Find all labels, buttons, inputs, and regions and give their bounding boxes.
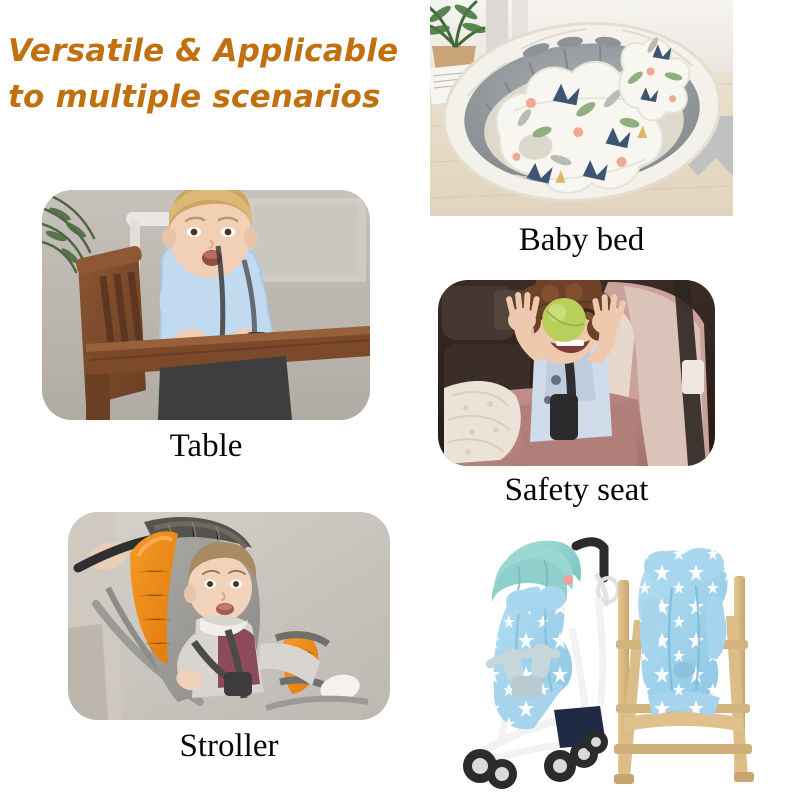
caption-table: Table [42,428,370,465]
photo-table [42,190,370,420]
infographic-canvas: Versatile & Applicable to multiple scena… [0,0,800,800]
caption-stroller: Stroller [68,728,390,765]
photo-stroller [68,512,390,720]
photo-safety-seat [438,280,715,466]
page-title: Versatile & Applicable to multiple scena… [8,28,428,120]
caption-baby-bed: Baby bed [430,222,733,259]
caption-safety-seat: Safety seat [438,472,715,509]
photo-baby-bed [430,0,733,216]
photo-product-shot [448,528,778,793]
